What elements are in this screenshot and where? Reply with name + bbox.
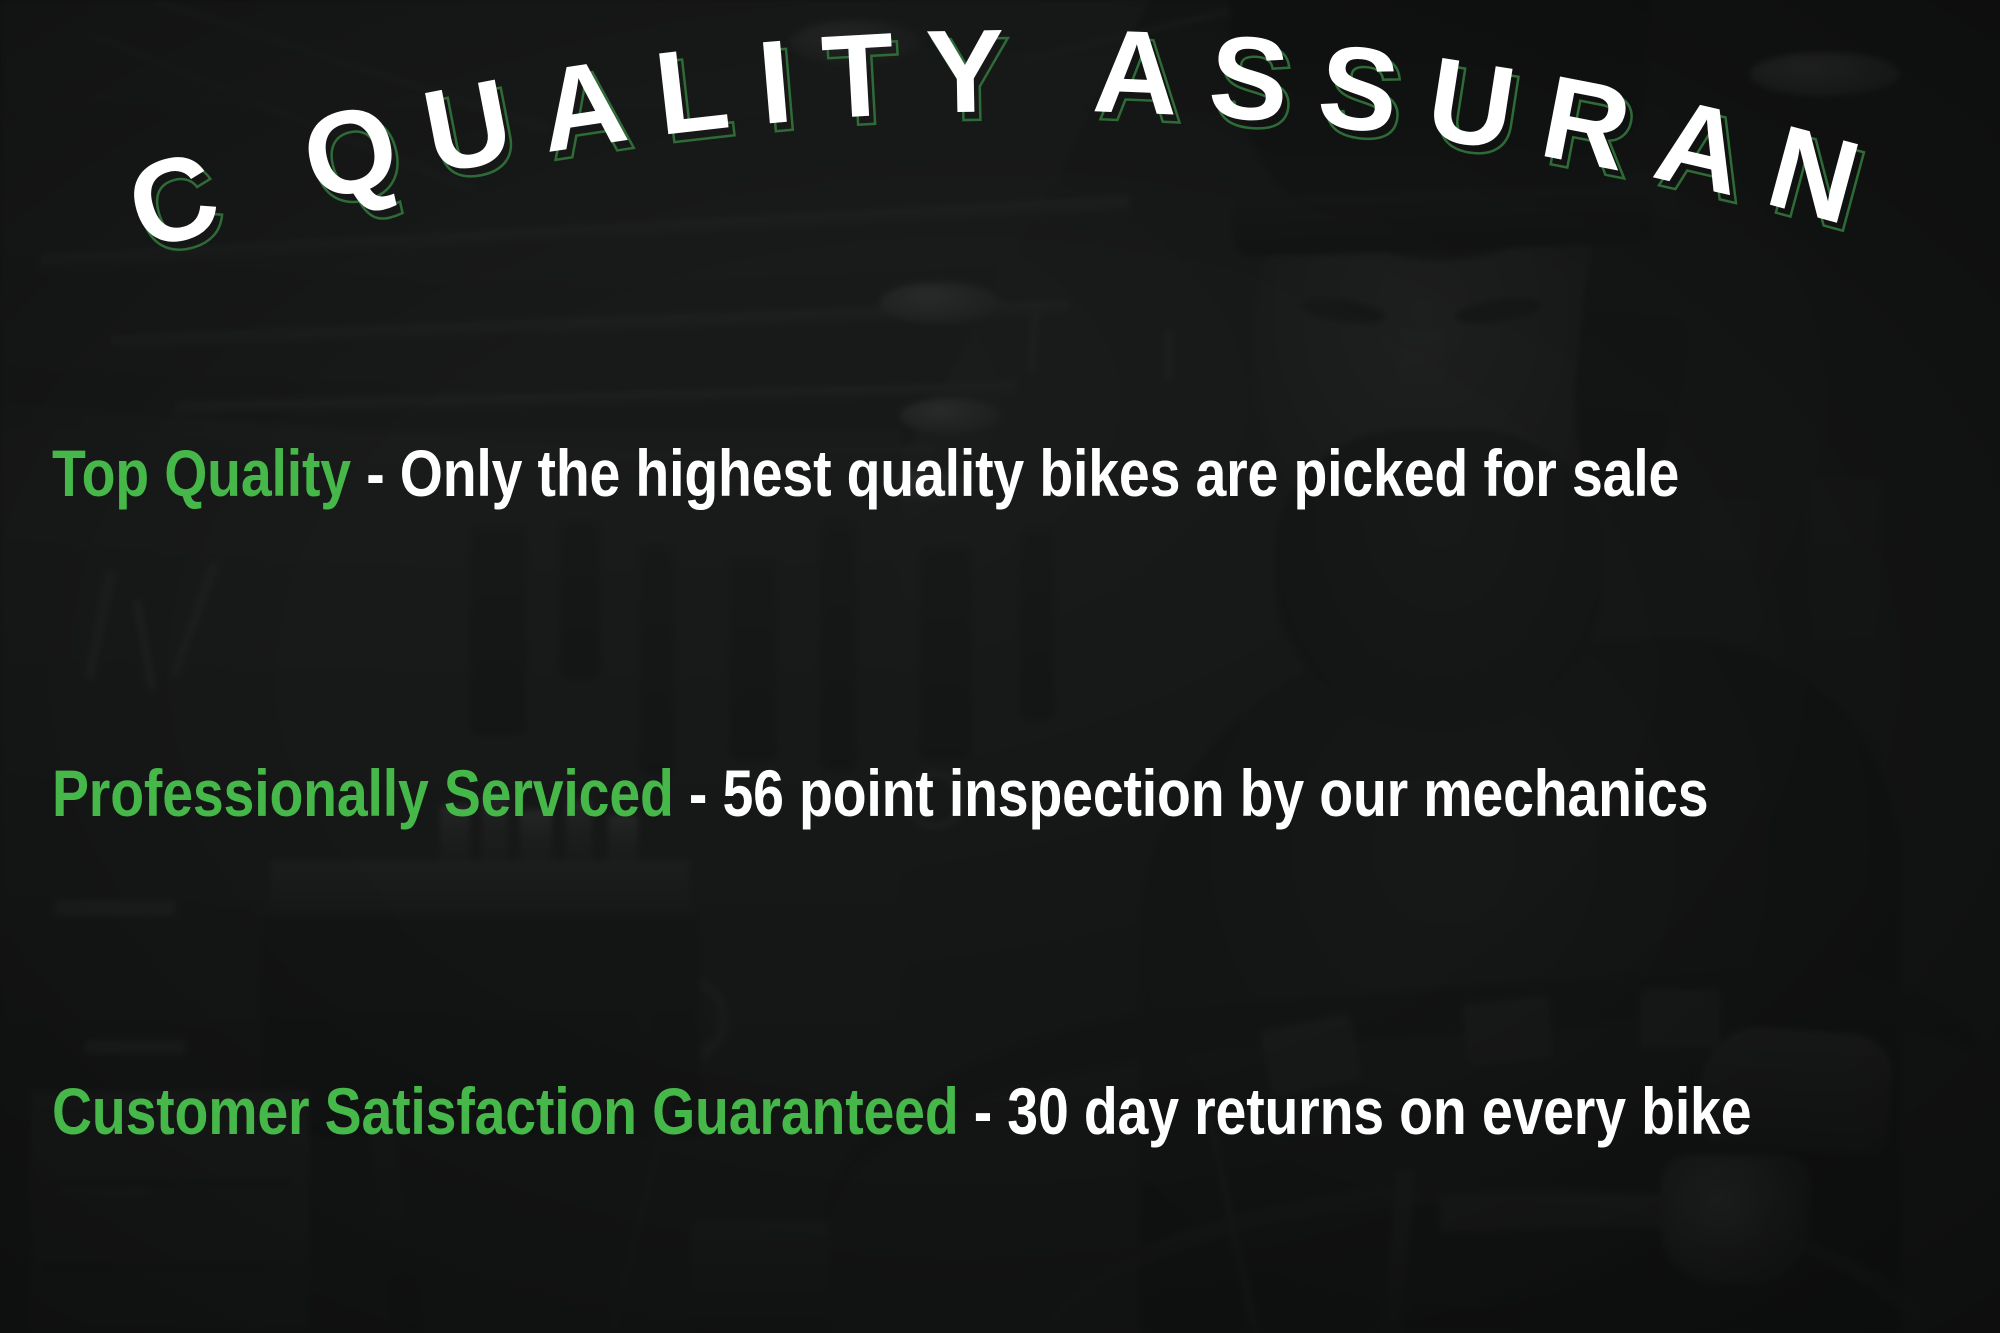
benefit-row-customer-satisfaction: Customer Satisfaction Guaranteed - 30 da… [52, 1078, 1751, 1144]
benefit-description: 56 point inspection by our mechanics [722, 756, 1708, 830]
benefit-list: Top Quality - Only the highest quality b… [52, 300, 1952, 1300]
arched-title-svg: TPC QUALITY ASSURANCE TPC QUALITY ASSURA… [0, 0, 2000, 330]
benefit-description: Only the highest quality bikes are picke… [400, 436, 1679, 510]
benefit-label: Top Quality [52, 436, 351, 510]
benefit-row-professionally-serviced: Professionally Serviced - 56 point inspe… [52, 760, 1708, 826]
benefit-label: Customer Satisfaction Guaranteed [52, 1074, 959, 1148]
benefit-separator: - [959, 1074, 1008, 1148]
benefit-row-top-quality: Top Quality - Only the highest quality b… [52, 440, 1679, 506]
quality-assurance-banner: TPC QUALITY ASSURANCE TPC QUALITY ASSURA… [0, 0, 2000, 1333]
benefit-separator: - [351, 436, 400, 510]
benefit-separator: - [674, 756, 723, 830]
benefit-description: 30 day returns on every bike [1007, 1074, 1751, 1148]
page-title-text: TPC QUALITY ASSURANCE [0, 0, 1901, 276]
page-title: TPC QUALITY ASSURANCE [0, 0, 1901, 276]
arched-title-wrapper: TPC QUALITY ASSURANCE TPC QUALITY ASSURA… [0, 0, 2000, 330]
benefit-label: Professionally Serviced [52, 756, 674, 830]
